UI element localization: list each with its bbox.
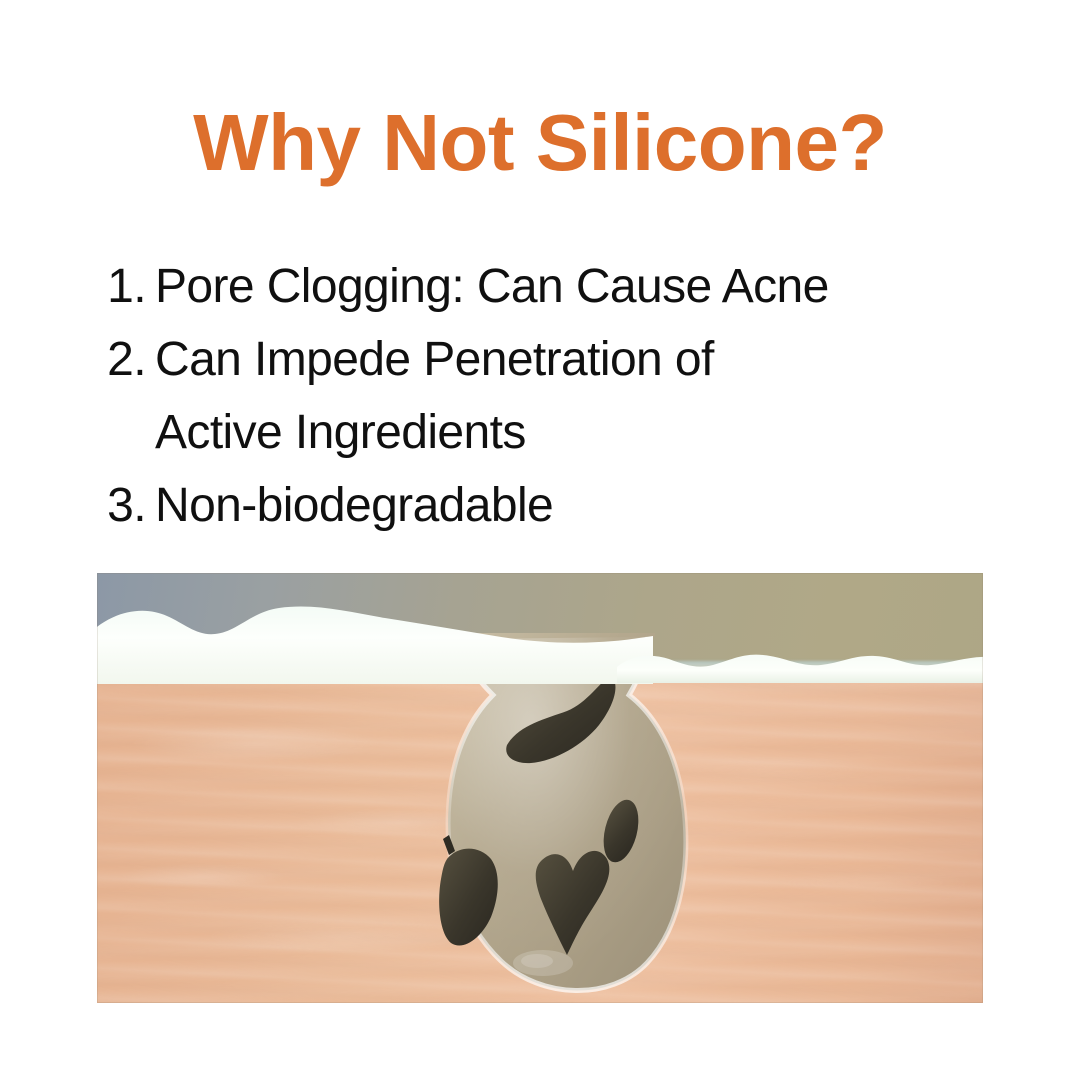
list-item-line: Non-biodegradable	[155, 469, 997, 542]
list-item: 2. Can Impede Penetration of Active Ingr…	[97, 323, 997, 469]
silicone-cream-layer-right	[617, 647, 983, 683]
list-item-line: Can Impede Penetration of	[155, 323, 997, 396]
list-item-line: Pore Clogging: Can Cause Acne	[155, 250, 997, 323]
pore-cavity	[415, 633, 715, 1003]
list-item: 1. Pore Clogging: Can Cause Acne	[97, 250, 997, 323]
list-item-number: 3.	[97, 469, 155, 542]
list-item-number: 1.	[97, 250, 155, 323]
list-item-text: Can Impede Penetration of Active Ingredi…	[155, 323, 997, 469]
list-item: 3. Non-biodegradable	[97, 469, 997, 542]
list-item-text: Pore Clogging: Can Cause Acne	[155, 250, 997, 323]
list-item-line: Active Ingredients	[155, 396, 997, 469]
gel-bubble	[521, 954, 553, 968]
infographic-card: Why Not Silicone? 1. Pore Clogging: Can …	[0, 0, 1080, 1080]
list-item-number: 2.	[97, 323, 155, 396]
clogged-pore-image: Cross-section of skin showing a silicone…	[97, 573, 983, 1003]
list-item-text: Non-biodegradable	[155, 469, 997, 542]
page-title: Why Not Silicone?	[0, 103, 1080, 183]
reasons-list: 1. Pore Clogging: Can Cause Acne 2. Can …	[97, 250, 997, 542]
silicone-cream-layer-left	[97, 596, 653, 684]
